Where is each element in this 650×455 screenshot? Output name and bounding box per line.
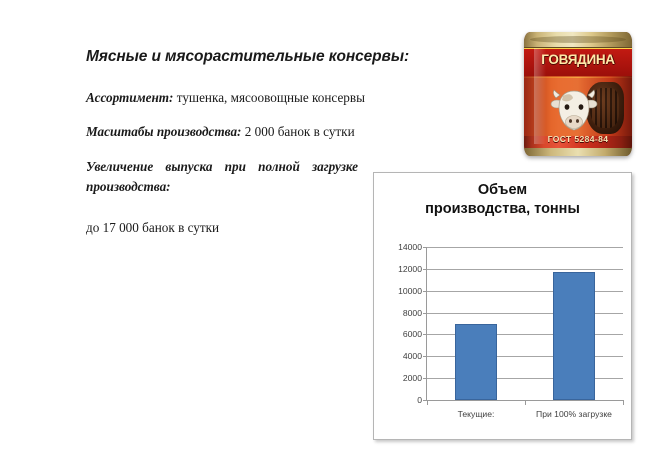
chart-x-tick-mark (427, 400, 428, 405)
bullet-output-increase-value: до 17 000 банок в сутки (86, 220, 219, 235)
chart-x-tick-mark (623, 400, 624, 405)
bullet-production-scale-label: Масштабы производства: (86, 124, 241, 139)
chart-title-line-2: производства, тонны (392, 200, 613, 219)
chart-y-axis-label: 4000 (403, 351, 422, 361)
chart-plot-wrapper: 02000400060008000100001200014000Текущие:… (382, 243, 625, 435)
chart-bar (455, 324, 496, 401)
bullet-assortment-label: Ассортимент: (86, 90, 173, 105)
chart-title: Объем производства, тонны (374, 173, 631, 218)
chart-x-tick-mark (525, 400, 526, 405)
chart-x-axis-label: Текущие: (458, 409, 495, 419)
chart-y-tick-mark (423, 291, 427, 292)
chart-bar (553, 272, 594, 400)
can-highlight (534, 48, 546, 144)
bullet-output-increase-value-line: до 17 000 банок в сутки (86, 218, 386, 238)
chart-y-axis-label: 10000 (398, 286, 422, 296)
product-photo: ГОВЯДИНА ГОСТ 5284-84 (516, 28, 640, 160)
chart-y-tick-mark (423, 269, 427, 270)
slide-canvas: Мясные и мясорастительные консервы: Ассо… (0, 0, 650, 455)
chart-plot-area: 02000400060008000100001200014000Текущие:… (426, 247, 623, 401)
chart-y-axis-label: 14000 (398, 242, 422, 252)
bullet-output-increase-label: Увеличение выпуска при полной загрузке п… (86, 159, 358, 194)
cow-head-icon (550, 82, 598, 136)
chart-y-tick-mark (423, 334, 427, 335)
chart-y-tick-mark (423, 313, 427, 314)
chart-x-axis-label: При 100% загрузке (536, 409, 612, 419)
bullet-assortment: Ассортимент: тушенка, мясоовощные консер… (86, 88, 386, 108)
bullet-production-scale: Масштабы производства: 2 000 банок в сут… (86, 122, 386, 142)
chart-y-axis-label: 0 (417, 395, 422, 405)
chart-y-tick-mark (423, 378, 427, 379)
chart-title-line-1: Объем (392, 181, 613, 200)
bullet-assortment-value: тушенка, мясоовощные консервы (177, 90, 365, 105)
bullet-output-increase: Увеличение выпуска при полной загрузке п… (86, 157, 358, 198)
chart-y-tick-mark (423, 356, 427, 357)
chart-gridline (427, 247, 623, 248)
production-volume-chart: Объем производства, тонны 02000400060008… (373, 172, 632, 440)
canned-beef-image: ГОВЯДИНА ГОСТ 5284-84 (524, 32, 632, 156)
chart-y-axis-label: 12000 (398, 264, 422, 274)
page-title: Мясные и мясорастительные консервы: (86, 48, 386, 66)
can-lid (524, 32, 632, 48)
chart-y-tick-mark (423, 247, 427, 248)
chart-y-axis-label: 6000 (403, 329, 422, 339)
chart-y-axis-label: 2000 (403, 373, 422, 383)
bullet-production-scale-value: 2 000 банок в сутки (245, 124, 355, 139)
can-bottom-rim (524, 148, 632, 156)
chart-gridline (427, 269, 623, 270)
text-content-column: Мясные и мясорастительные консервы: Ассо… (86, 48, 386, 252)
chart-y-axis-label: 8000 (403, 308, 422, 318)
